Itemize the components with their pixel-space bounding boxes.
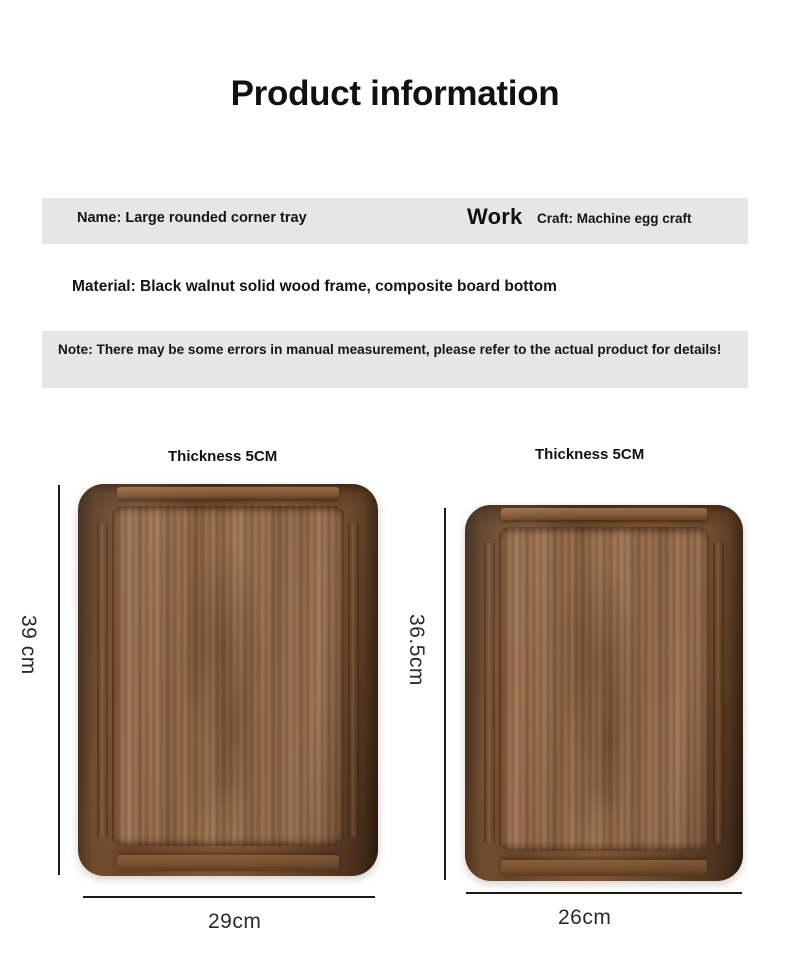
page-title: Product information — [0, 74, 790, 114]
tray-rail-bottom-2 — [501, 860, 707, 876]
work-heading: Work — [467, 204, 522, 230]
tray-rail-top-2 — [501, 508, 707, 520]
tray-image-large — [78, 484, 378, 876]
product-craft-label: Craft: Machine egg craft — [537, 211, 692, 226]
tray-bottom-panel-2 — [499, 527, 709, 851]
dimension-width-tray-1: 29cm — [208, 910, 261, 934]
dimension-width-tray-2: 26cm — [558, 906, 611, 930]
measurement-note-text: Note: There may be some errors in manual… — [58, 340, 732, 359]
tray-corner-post-right-1 — [348, 523, 359, 837]
product-material-label: Material: Black walnut solid wood frame,… — [72, 278, 557, 296]
thickness-label-tray-1: Thickness 5CM — [168, 448, 277, 465]
dimension-height-tray-2: 36.5cm — [404, 614, 428, 686]
tray-image-small — [465, 505, 743, 881]
measurement-note-panel: Note: There may be some errors in manual… — [42, 331, 748, 388]
measure-line-height-tray-1 — [58, 485, 60, 875]
spec-row-name-craft: Name: Large rounded corner tray Work Cra… — [42, 198, 748, 244]
tray-rail-bottom-1 — [117, 855, 339, 871]
measure-line-width-tray-1 — [83, 896, 375, 898]
tray-corner-post-left-2 — [484, 543, 495, 844]
tray-bottom-panel-1 — [112, 506, 344, 846]
dimension-height-tray-1: 39 cm — [16, 615, 40, 675]
measure-line-width-tray-2 — [466, 892, 742, 894]
tray-corner-post-left-1 — [97, 523, 108, 837]
measure-line-height-tray-2 — [444, 508, 446, 880]
thickness-label-tray-2: Thickness 5CM — [535, 446, 644, 463]
tray-rail-top-1 — [117, 487, 339, 499]
tray-corner-post-right-2 — [713, 543, 724, 844]
product-name-label: Name: Large rounded corner tray — [77, 210, 307, 226]
